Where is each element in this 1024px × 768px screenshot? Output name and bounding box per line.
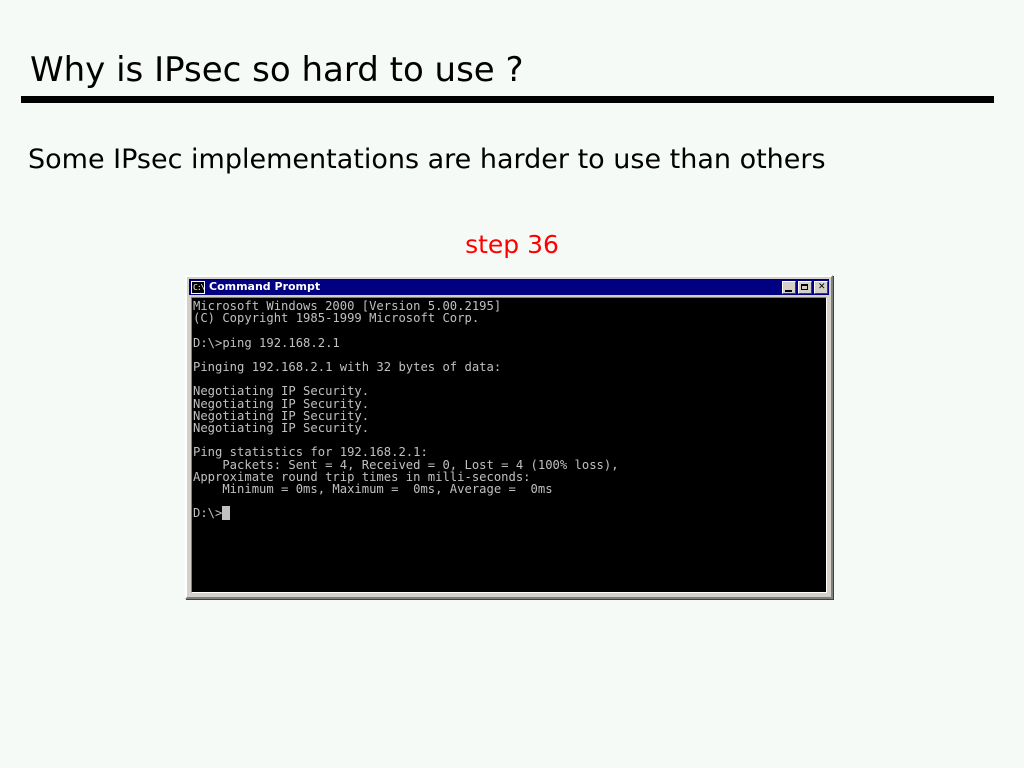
window-title: Command Prompt [209, 279, 782, 295]
command-prompt-icon: C:\ [191, 281, 205, 294]
title-divider [21, 96, 994, 103]
minimize-icon [785, 290, 792, 292]
minimize-button[interactable] [782, 281, 796, 294]
slide-subtitle: Some IPsec implementations are harder to… [28, 144, 826, 175]
maximize-icon [801, 284, 808, 290]
command-prompt-window[interactable]: C:\ Command Prompt ✕ Microsoft Windows 2… [185, 275, 833, 599]
command-prompt-icon-glyph: C:\ [193, 281, 204, 294]
step-label: step 36 [0, 230, 1024, 259]
slide: Why is IPsec so hard to use ? Some IPsec… [0, 0, 1024, 768]
console-cursor: _ [222, 506, 229, 520]
close-icon: ✕ [818, 283, 826, 292]
console-output-area[interactable]: Microsoft Windows 2000 [Version 5.00.219… [191, 297, 827, 593]
close-button[interactable]: ✕ [814, 281, 828, 294]
page-title: Why is IPsec so hard to use ? [30, 50, 524, 90]
window-controls: ✕ [782, 281, 828, 294]
maximize-button[interactable] [798, 281, 812, 294]
window-titlebar[interactable]: C:\ Command Prompt ✕ [189, 279, 829, 295]
console-text: Microsoft Windows 2000 [Version 5.00.219… [192, 298, 826, 520]
